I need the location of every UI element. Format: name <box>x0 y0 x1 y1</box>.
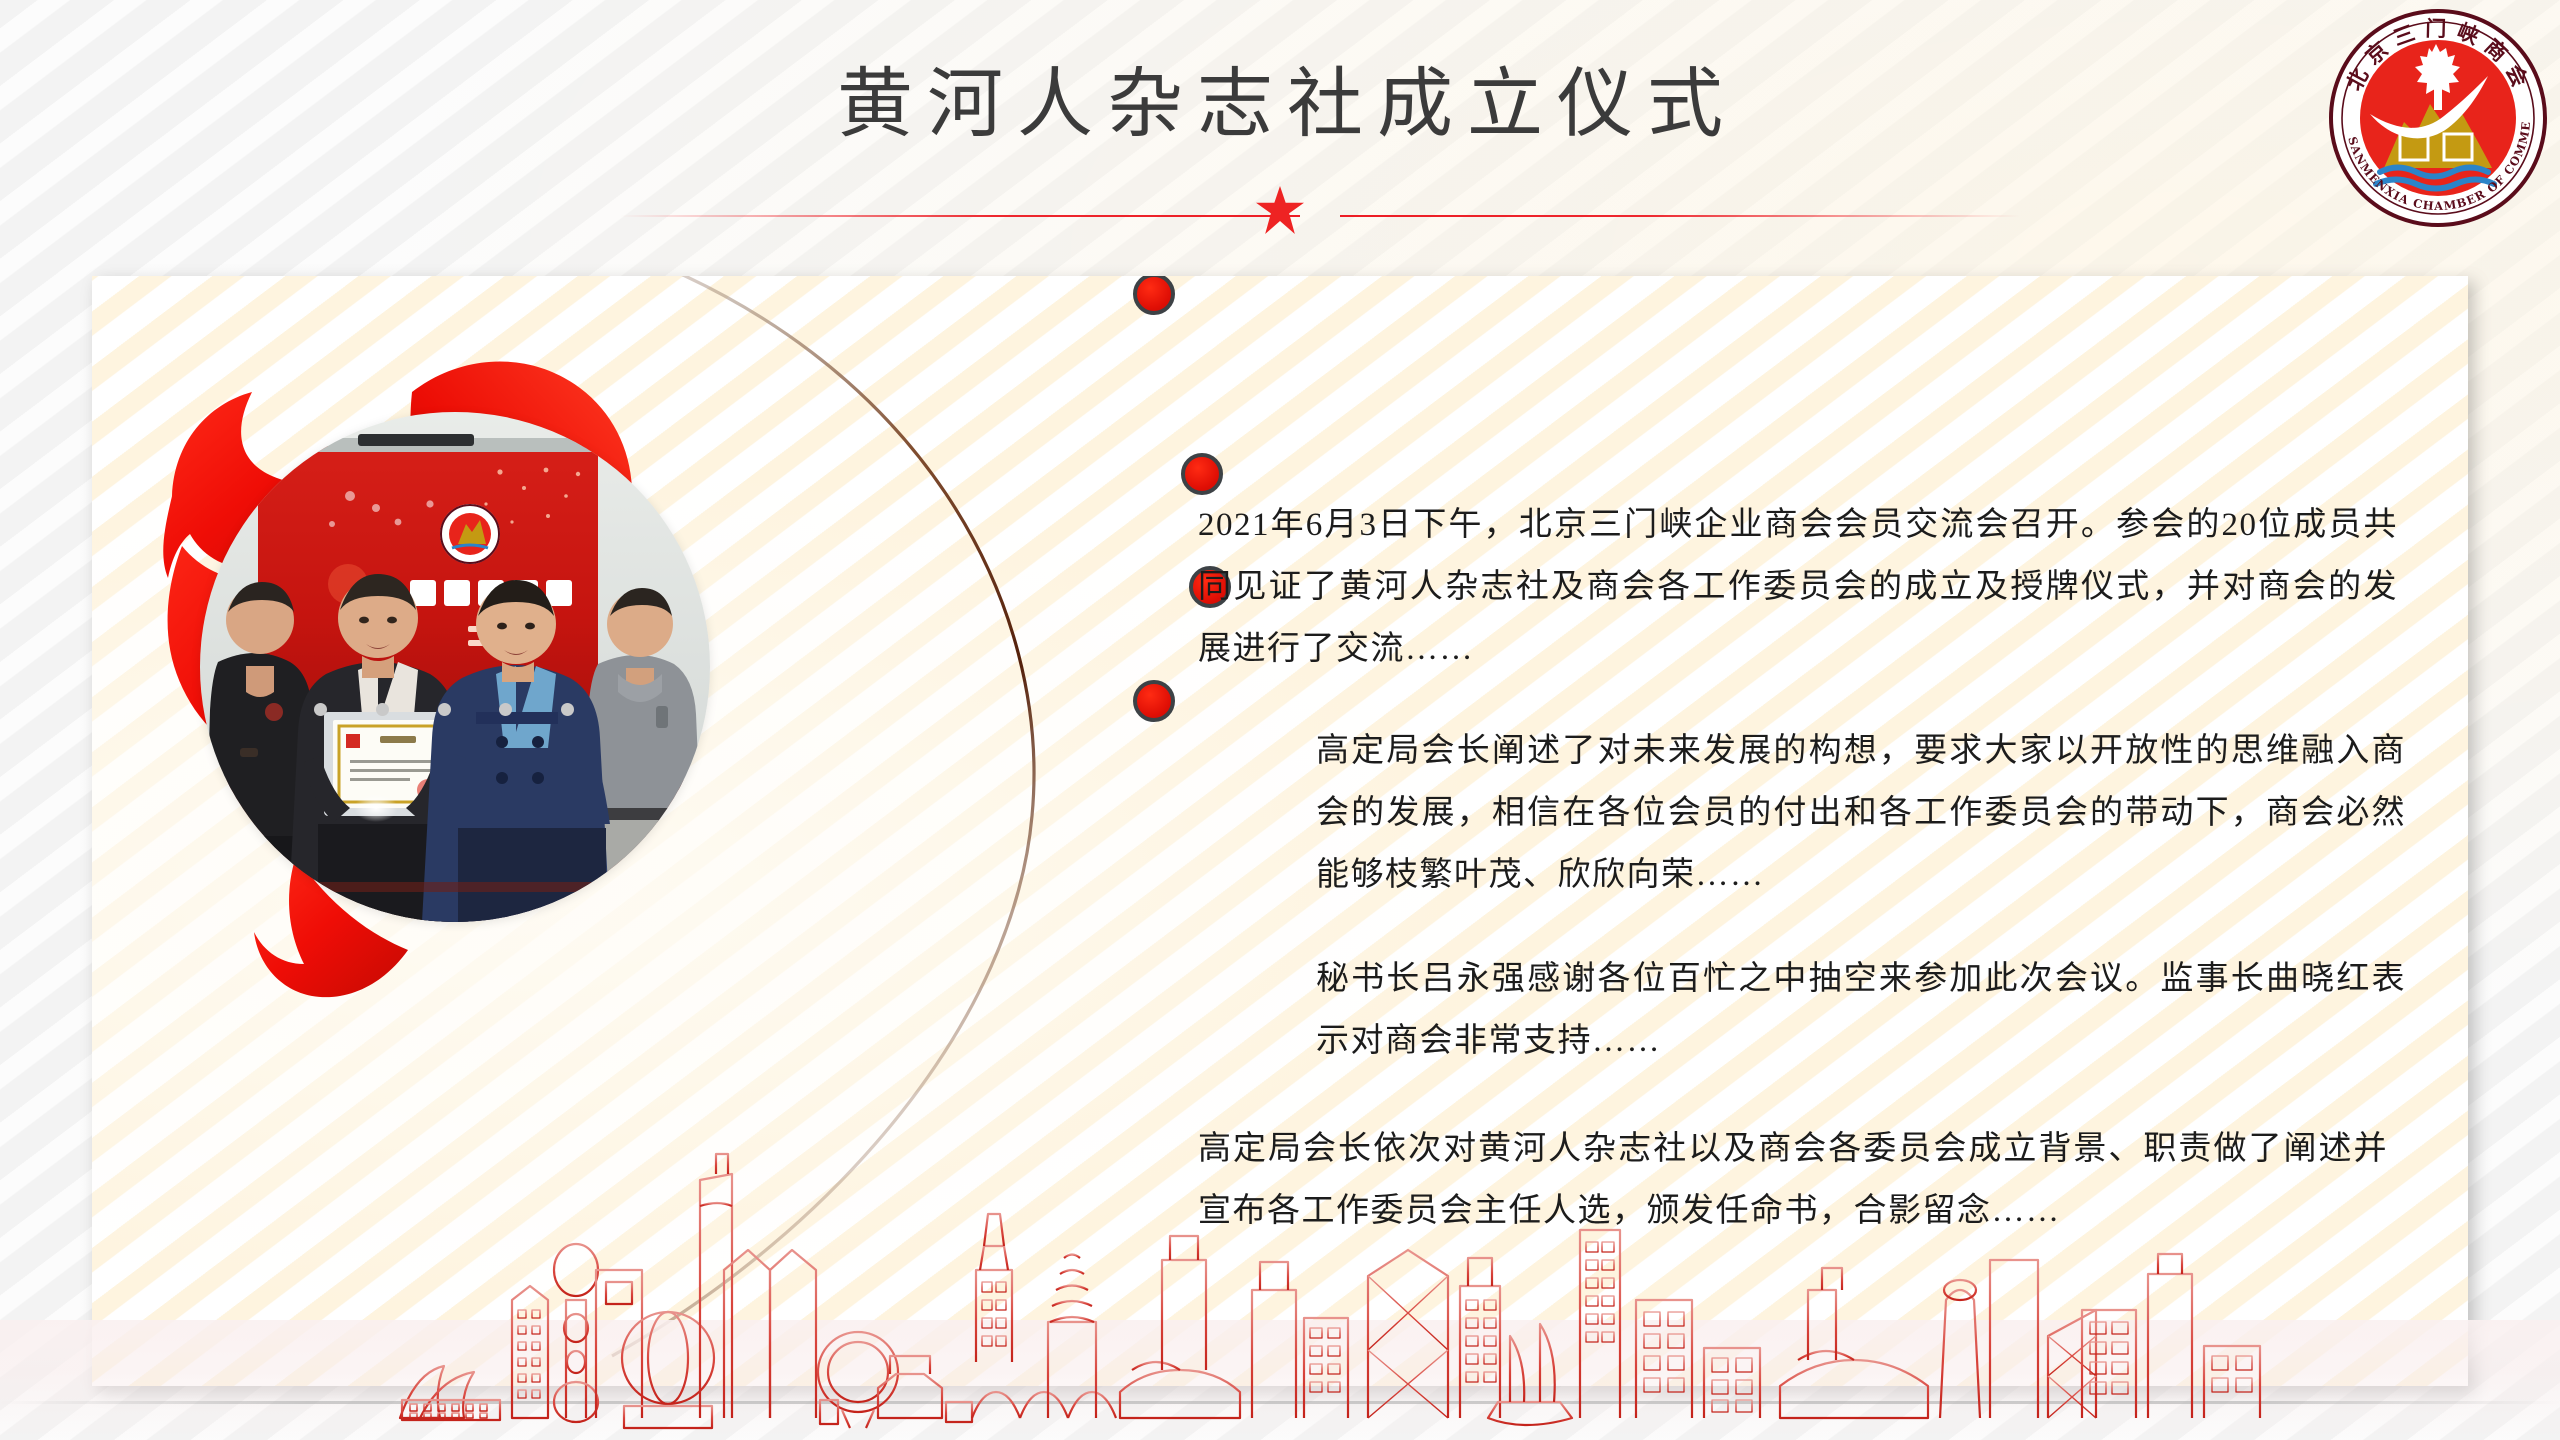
timeline-node-4 <box>1133 680 1175 722</box>
floor-glow <box>0 1320 2560 1440</box>
divider-line-right <box>1340 215 2020 217</box>
red-star-icon <box>1256 186 1304 234</box>
paragraph-3: 秘书长吕永强感谢各位百忙之中抽空来参加此次会议。监事长曲晓红表示对商会非常支持…… <box>1316 948 2406 1072</box>
dot-1 <box>314 703 327 716</box>
article-text-column: 2021年6月3日下午，北京三门峡企业商会会员交流会召开。参会的20位成员共同见… <box>1198 494 2428 1242</box>
decorative-dots-row <box>314 701 574 717</box>
content-card: 2021年6月3日下午，北京三门峡企业商会会员交流会召开。参会的20位成员共同见… <box>92 276 2468 1386</box>
page-title: 黄河人杂志社成立仪式 <box>0 42 2560 152</box>
chamber-logo: 北京三门峡商会 SANMENXIA CHAMBER OF COMMERCE IN… <box>2326 6 2550 230</box>
dot-4 <box>499 703 512 716</box>
divider-line-left <box>620 215 1300 217</box>
slide-root: 黄河人杂志社成立仪式 <box>0 0 2560 1440</box>
slide-header: 黄河人杂志社成立仪式 <box>0 0 2560 276</box>
timeline-node-1 <box>1133 276 1175 315</box>
dot-2 <box>376 703 389 716</box>
paragraph-4: 高定局会长依次对黄河人杂志社以及商会各委员会成立背景、职责做了阐述并宣布各工作委… <box>1198 1118 2388 1242</box>
paragraph-1: 2021年6月3日下午，北京三门峡企业商会会员交流会召开。参会的20位成员共同见… <box>1198 494 2398 680</box>
dot-5 <box>561 703 574 716</box>
ground-line <box>0 1401 2560 1404</box>
dot-3 <box>438 703 451 716</box>
title-divider <box>0 186 2560 246</box>
photo-composition <box>92 276 872 1386</box>
paragraph-2: 高定局会长阐述了对未来发展的构想，要求大家以开放性的思维融入商会的发展，相信在各… <box>1316 720 2406 906</box>
timeline-node-2 <box>1181 453 1223 495</box>
award-ceremony-photo <box>200 412 710 922</box>
